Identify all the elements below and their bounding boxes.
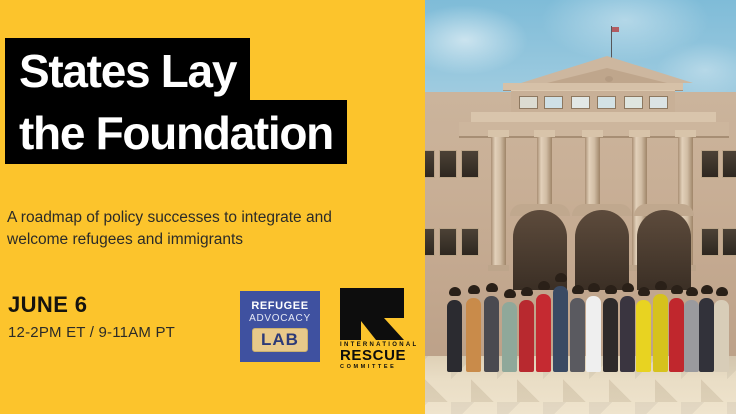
irc-logo[interactable]: INTERNATIONAL RESCUE COMMITTEE — [338, 288, 422, 366]
headline-line-2: the Foundation — [5, 100, 347, 164]
promo-banner: States Lay the Foundation A roadmap of p… — [0, 0, 736, 414]
ral-line-2: ADVOCACY — [249, 313, 311, 325]
frieze-medallion — [597, 96, 616, 109]
frieze-medallion — [544, 96, 563, 109]
ral-line-1: REFUGEE — [251, 301, 308, 313]
event-date: JUNE 6 — [8, 292, 87, 318]
frieze-medallion — [519, 96, 538, 109]
column — [491, 136, 506, 266]
irc-line-2: RESCUE — [340, 348, 406, 363]
subtitle: A roadmap of policy successes to integra… — [7, 207, 387, 252]
headline-line-1: States Lay — [5, 38, 250, 102]
ral-line-3: LAB — [252, 328, 308, 352]
frieze-medallion — [571, 96, 590, 109]
frieze-medallion — [649, 96, 668, 109]
frieze-medallion — [624, 96, 643, 109]
irc-line-3: COMMITTEE — [340, 364, 396, 370]
event-time: 12-2PM ET / 9-11AM PT — [8, 324, 175, 341]
capitol-group-photo — [425, 0, 736, 414]
flag-icon — [612, 27, 619, 32]
refugee-advocacy-lab-logo[interactable]: REFUGEE ADVOCACY LAB — [240, 291, 320, 362]
irc-mark-icon — [340, 288, 404, 340]
crowd-group — [425, 250, 736, 372]
pediment-medallion — [605, 76, 613, 82]
